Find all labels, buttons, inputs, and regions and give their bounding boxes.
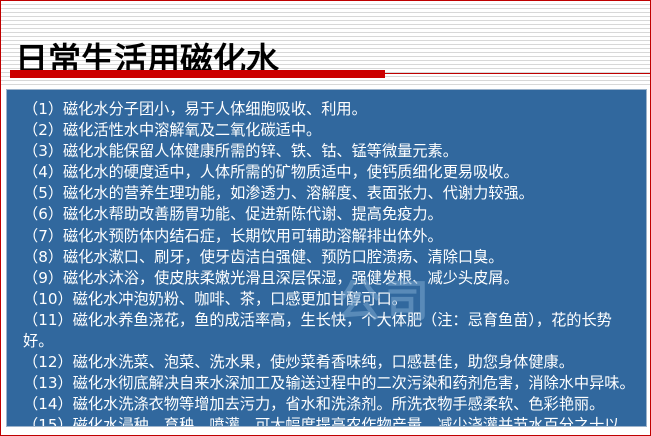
list-item: （14）磁化水洗涤衣物等增加去污力，省水和洗涤剂。所洗衣物手感柔软、色彩艳丽。: [23, 394, 640, 415]
title-accent-bar: [10, 70, 385, 78]
list-item: （3）磁化水能保留人体健康所需的锌、铁、钴、锰等微量元素。: [23, 141, 640, 162]
list-item: （8）磁化水漱口、刷牙，使牙齿洁白强健、预防口腔溃疡、清除口臭。: [23, 247, 640, 268]
content-panel-inner: （1）磁化水分子团小，易于人体细胞吸收、利用。 （2）磁化活性水中溶解氧及二氧化…: [7, 90, 646, 426]
list-item: （1）磁化水分子团小，易于人体细胞吸收、利用。: [23, 99, 640, 120]
list-item: （13）磁化水彻底解决自来水深加工及输送过程中的二次污染和药剂危害，消除水中异味…: [23, 373, 640, 394]
list-item: （2）磁化活性水中溶解氧及二氧化碳适中。: [23, 120, 640, 141]
list-item: （10）磁化水冲泡奶粉、咖啡、茶，口感更加甘醇可口。: [23, 289, 640, 310]
benefits-list: （1）磁化水分子团小，易于人体细胞吸收、利用。 （2）磁化活性水中溶解氧及二氧化…: [23, 99, 640, 427]
content-panel: （1）磁化水分子团小，易于人体细胞吸收、利用。 （2）磁化活性水中溶解氧及二氧化…: [6, 89, 647, 427]
list-item: （12）磁化水洗菜、泡菜、洗水果，使炒菜肴香味纯，口感甚佳，助您身体健康。: [23, 352, 640, 373]
list-item: （5）磁化水的营养生理功能，如渗透力、溶解度、表面张力、代谢力较强。: [23, 183, 640, 204]
list-item: （9）磁化水沐浴，使皮肤柔嫩光滑且深层保湿，强健发根、减少头皮屑。: [23, 268, 640, 289]
list-item: （7）磁化水预防体内结石症，长期饮用可辅助溶解排出体外。: [23, 226, 640, 247]
list-item: （4）磁化水的硬度适中，人体所需的矿物质适中，使钙质细化更易吸收。: [23, 162, 640, 183]
list-item: （11）磁化水养鱼浇花，鱼的成活率高，生长快，个大体肥（注：忌育鱼苗），花的长势…: [23, 310, 640, 352]
slide-root: 日常生活用磁化水 （1）磁化水分子团小，易于人体细胞吸收、利用。 （2）磁化活性…: [0, 0, 651, 436]
list-item: （6）磁化水帮助改善肠胃功能、促进新陈代谢、提高免疫力。: [23, 204, 640, 225]
list-item: （15）磁化水浸种、育秧、喷灌，可大幅度提高农作物产量，减少浇灌并节水百分之十以…: [23, 415, 640, 427]
